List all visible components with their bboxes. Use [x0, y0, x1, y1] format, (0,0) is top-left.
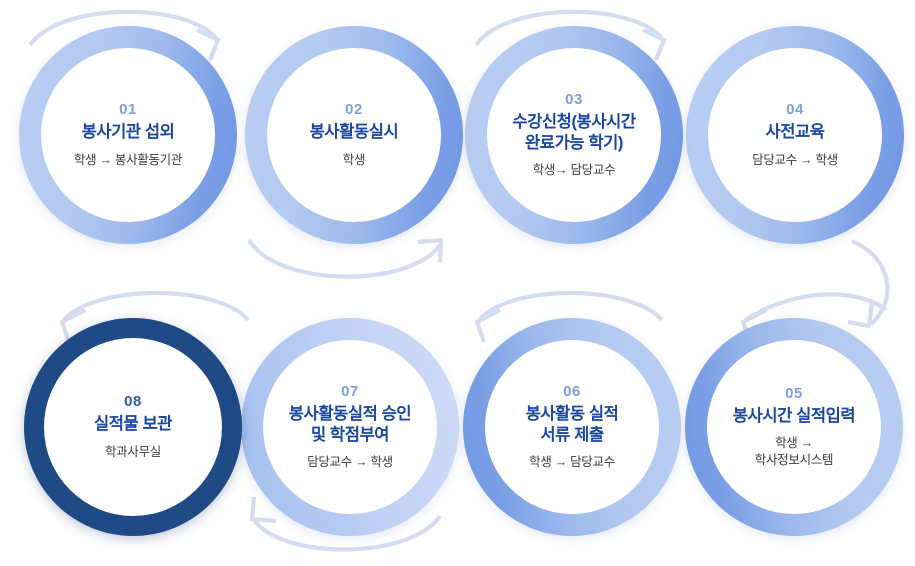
- step-subtitle-07: 담당교수 → 학생: [307, 454, 393, 471]
- process-step-04[interactable]: 04 사전교육 담당교수 → 학생: [686, 26, 904, 244]
- step-title-04: 사전교육: [765, 122, 824, 143]
- step-content-08: 08 실적물 보관 학과사무실: [44, 338, 222, 516]
- step-number-05: 05: [785, 385, 803, 403]
- step-title-06: 봉사활동 실적 서류 제출: [526, 404, 619, 445]
- process-step-08[interactable]: 08 실적물 보관 학과사무실: [24, 318, 242, 536]
- step-number-08: 08: [124, 393, 142, 411]
- step-title-01: 봉사기관 섭외: [82, 122, 175, 143]
- arrow-04-to-05: [848, 241, 888, 326]
- step-content-02: 02 봉사활동실시 학생: [267, 48, 441, 222]
- step-content-01: 01 봉사기관 섭외 학생 → 봉사활동기관: [41, 48, 215, 222]
- step-subtitle-03: 학생→ 담당교수: [533, 162, 616, 179]
- step-subtitle-05: 학생 → 학사정보시스템: [755, 435, 833, 469]
- step-subtitle-02: 학생: [343, 152, 365, 169]
- process-step-02[interactable]: 02 봉사활동실시 학생: [245, 26, 463, 244]
- step-number-01: 01: [119, 101, 137, 119]
- step-subtitle-01: 학생 → 봉사활동기관: [74, 152, 182, 169]
- step-number-03: 03: [565, 91, 583, 109]
- step-title-03: 수강신청(봉사시간 완료가능 학기): [512, 112, 635, 153]
- step-title-07: 봉사활동실적 승인 및 학점부여: [289, 404, 411, 445]
- process-step-03[interactable]: 03 수강신청(봉사시간 완료가능 학기) 학생→ 담당교수: [465, 26, 683, 244]
- process-step-01[interactable]: 01 봉사기관 섭외 학생 → 봉사활동기관: [19, 26, 237, 244]
- step-content-05: 05 봉사시간 실적입력 학생 → 학사정보시스템: [707, 340, 881, 514]
- step-number-06: 06: [563, 383, 581, 401]
- process-step-06[interactable]: 06 봉사활동 실적 서류 제출 학생 → 담당교수: [463, 318, 681, 536]
- step-subtitle-08: 학과사무실: [105, 444, 161, 461]
- arrow-02-to-03: [249, 240, 441, 277]
- step-subtitle-04: 담당교수 → 학생: [752, 152, 838, 169]
- step-subtitle-06: 학생 → 담당교수: [529, 454, 615, 471]
- step-number-07: 07: [341, 383, 359, 401]
- step-title-05: 봉사시간 실적입력: [733, 406, 855, 427]
- process-flow-diagram: .arc{ fill:none; stroke:#d5dcf0; stroke-…: [0, 0, 915, 566]
- step-content-04: 04 사전교육 담당교수 → 학생: [708, 48, 882, 222]
- step-number-02: 02: [345, 101, 363, 119]
- step-content-03: 03 수강신청(봉사시간 완료가능 학기) 학생→ 담당교수: [487, 48, 661, 222]
- process-step-07[interactable]: 07 봉사활동실적 승인 및 학점부여 담당교수 → 학생: [241, 318, 459, 536]
- step-number-04: 04: [786, 101, 804, 119]
- step-title-02: 봉사활동실시: [310, 122, 399, 143]
- step-content-07: 07 봉사활동실적 승인 및 학점부여 담당교수 → 학생: [263, 340, 437, 514]
- step-title-08: 실적물 보관: [94, 414, 172, 435]
- step-content-06: 06 봉사활동 실적 서류 제출 학생 → 담당교수: [485, 340, 659, 514]
- process-step-05[interactable]: 05 봉사시간 실적입력 학생 → 학사정보시스템: [685, 318, 903, 536]
